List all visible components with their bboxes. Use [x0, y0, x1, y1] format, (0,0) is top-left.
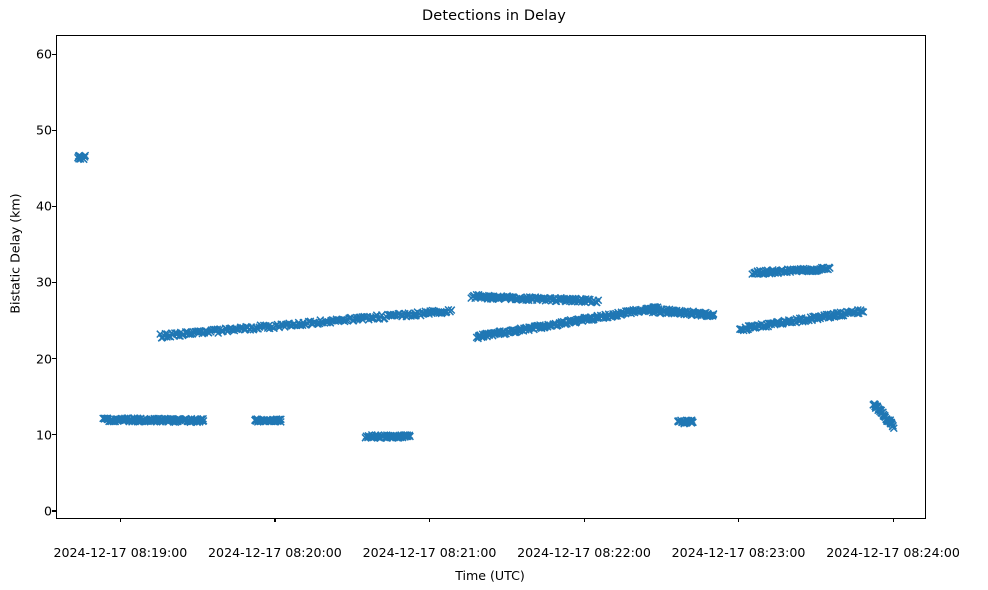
- scatter-marker-path: [75, 152, 898, 442]
- y-axis-tick-label: 20: [0, 351, 52, 366]
- y-axis-label: Bistatic Delay (km): [8, 14, 23, 494]
- chart-title: Detections in Delay: [0, 8, 988, 24]
- chart-figure: Detections in Delay Bistatic Delay (km) …: [0, 0, 988, 590]
- y-axis-tick-label: 60: [0, 47, 52, 62]
- plot-area[interactable]: [56, 35, 926, 519]
- x-axis-tick-label: 2024-12-17 08:19:00: [54, 545, 188, 560]
- x-axis-tick-label: 2024-12-17 08:21:00: [363, 545, 497, 560]
- x-axis-tick-label: 2024-12-17 08:20:00: [208, 545, 342, 560]
- x-axis-tick-label: 2024-12-17 08:22:00: [517, 545, 651, 560]
- y-axis-tick-label: 40: [0, 199, 52, 214]
- y-axis-tick-label: 10: [0, 427, 52, 442]
- x-axis-label: Time (UTC): [56, 568, 924, 583]
- scatter-points-layer: [57, 36, 925, 518]
- x-axis-tick-label: 2024-12-17 08:23:00: [672, 545, 806, 560]
- y-axis-tick-label: 50: [0, 123, 52, 138]
- y-axis-tick-label: 30: [0, 275, 52, 290]
- y-axis-tick-label: 0: [0, 503, 52, 518]
- x-axis-tick-label: 2024-12-17 08:24:00: [826, 545, 960, 560]
